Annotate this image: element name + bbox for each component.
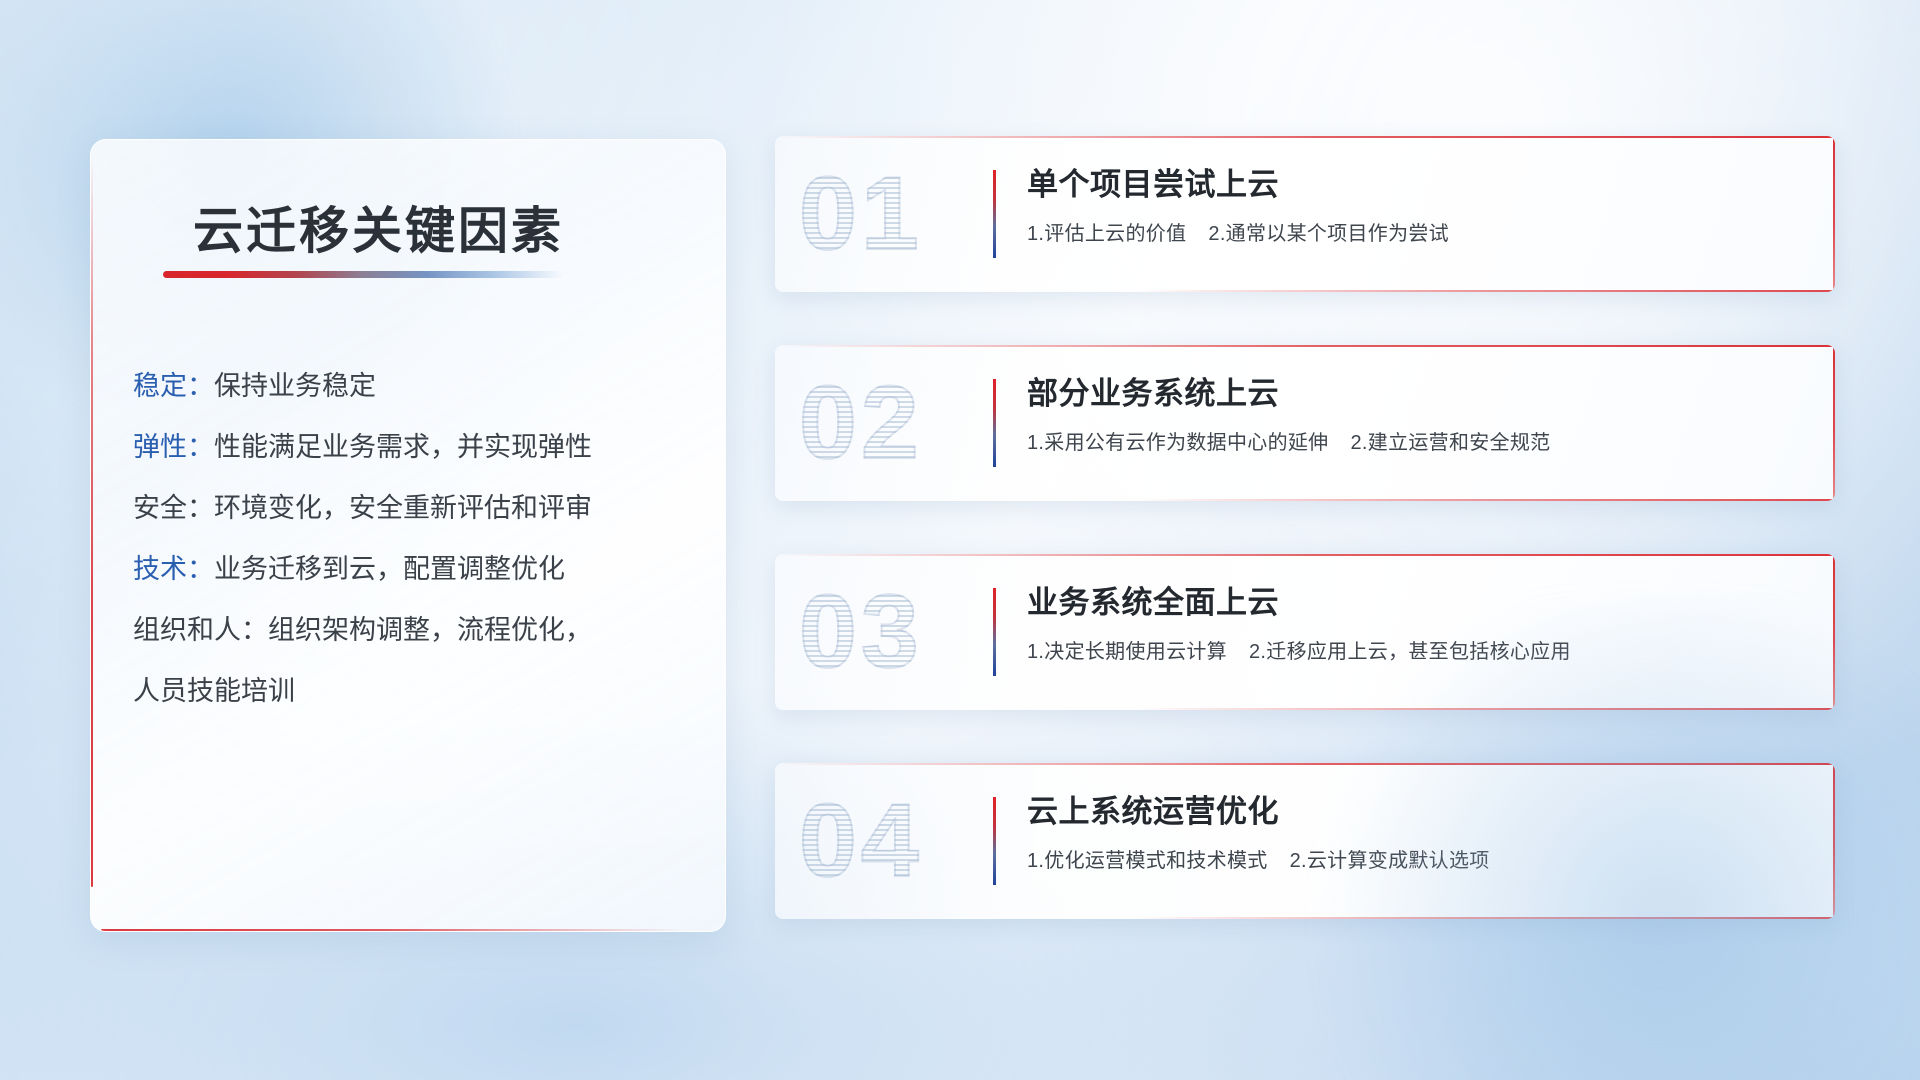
slide-canvas: 云迁移关键因素 稳定：保持业务稳定 弹性：性能满足业务需求，并实现弹性 安全：环… <box>0 0 1920 1080</box>
stage-number: 04 <box>799 789 923 893</box>
stage-number: 03 <box>799 580 923 684</box>
card-description: 1.评估上云的价值2.通常以某个项目作为尝试 <box>1027 221 1811 247</box>
card-description-part-1: 1.评估上云的价值 <box>1027 223 1186 245</box>
card-body: 部分业务系统上云 1.采用公有云作为数据中心的延伸2.建立运营和安全规范 <box>1027 375 1811 456</box>
card-right-accent-line <box>1833 345 1835 501</box>
card-description: 1.采用公有云作为数据中心的延伸2.建立运营和安全规范 <box>1027 430 1811 456</box>
card-description: 1.决定长期使用云计算2.迁移应用上云，甚至包括核心应用 <box>1027 639 1811 665</box>
factor-label: 安全： <box>133 493 214 523</box>
card-body: 业务系统全面上云 1.决定长期使用云计算2.迁移应用上云，甚至包括核心应用 <box>1027 584 1811 665</box>
factor-label: 弹性： <box>133 432 214 462</box>
factor-item: 人员技能培训 <box>133 661 699 722</box>
card-divider-bar <box>993 379 996 467</box>
card-right-accent-line <box>1833 554 1835 710</box>
card-title: 业务系统全面上云 <box>1027 584 1811 623</box>
card-title: 部分业务系统上云 <box>1027 375 1811 414</box>
stage-number: 02 <box>799 371 923 475</box>
card-description-part-1: 1.采用公有云作为数据中心的延伸 <box>1027 432 1328 454</box>
factor-item: 稳定：保持业务稳定 <box>133 356 699 417</box>
card-title: 单个项目尝试上云 <box>1027 166 1811 205</box>
card-body: 单个项目尝试上云 1.评估上云的价值2.通常以某个项目作为尝试 <box>1027 166 1811 247</box>
card-bottom-accent-line <box>1135 290 1835 292</box>
factor-list: 稳定：保持业务稳定 弹性：性能满足业务需求，并实现弹性 安全：环境变化，安全重新… <box>133 356 699 722</box>
factor-label: 技术： <box>133 554 214 584</box>
card-top-accent-line <box>775 763 1835 765</box>
factor-text: 保持业务稳定 <box>214 371 376 401</box>
card-right-accent-line <box>1833 763 1835 919</box>
factor-label: 稳定： <box>133 371 214 401</box>
stage-card[interactable]: 04 云上系统运营优化 1.优化运营模式和技术模式2.云计算变成默认选项 <box>775 763 1835 919</box>
card-description-part-2: 2.通常以某个项目作为尝试 <box>1208 223 1449 245</box>
card-description-part-2: 2.云计算变成默认选项 <box>1290 850 1490 872</box>
card-top-accent-line <box>775 554 1835 556</box>
factor-text: 环境变化，安全重新评估和评审 <box>214 493 592 523</box>
factor-text: 人员技能培训 <box>133 676 295 706</box>
factor-text: 性能满足业务需求，并实现弹性 <box>214 432 592 462</box>
card-divider-bar <box>993 170 996 258</box>
stage-card[interactable]: 01 单个项目尝试上云 1.评估上云的价值2.通常以某个项目作为尝试 <box>775 136 1835 292</box>
card-description-part-1: 1.决定长期使用云计算 <box>1027 641 1227 663</box>
factor-label: 组织和人： <box>133 615 268 645</box>
panel-left-accent-line <box>91 154 93 887</box>
key-factors-panel: 云迁移关键因素 稳定：保持业务稳定 弹性：性能满足业务需求，并实现弹性 安全：环… <box>90 139 726 932</box>
stage-number: 01 <box>799 162 923 266</box>
factor-item: 弹性：性能满足业务需求，并实现弹性 <box>133 417 699 478</box>
card-right-accent-line <box>1833 136 1835 292</box>
card-description-part-2: 2.建立运营和安全规范 <box>1350 432 1550 454</box>
card-top-accent-line <box>775 345 1835 347</box>
card-bottom-accent-line <box>1135 708 1835 710</box>
card-divider-bar <box>993 588 996 676</box>
factor-item: 组织和人：组织架构调整，流程优化， <box>133 600 699 661</box>
factor-item: 技术：业务迁移到云，配置调整优化 <box>133 539 699 600</box>
card-bottom-accent-line <box>1135 917 1835 919</box>
card-description: 1.优化运营模式和技术模式2.云计算变成默认选项 <box>1027 848 1811 874</box>
factor-text: 业务迁移到云，配置调整优化 <box>214 554 565 584</box>
panel-bottom-accent-line <box>101 929 685 931</box>
card-description-part-1: 1.优化运营模式和技术模式 <box>1027 850 1268 872</box>
factor-item: 安全：环境变化，安全重新评估和评审 <box>133 478 699 539</box>
card-body: 云上系统运营优化 1.优化运营模式和技术模式2.云计算变成默认选项 <box>1027 793 1811 874</box>
card-title: 云上系统运营优化 <box>1027 793 1811 832</box>
factor-text: 组织架构调整，流程优化， <box>268 615 592 645</box>
card-bottom-accent-line <box>1135 499 1835 501</box>
card-divider-bar <box>993 797 996 885</box>
card-description-part-2: 2.迁移应用上云，甚至包括核心应用 <box>1249 641 1571 663</box>
card-top-accent-line <box>775 136 1835 138</box>
stage-card-list: 01 单个项目尝试上云 1.评估上云的价值2.通常以某个项目作为尝试 02 部分… <box>775 136 1835 972</box>
stage-card[interactable]: 02 部分业务系统上云 1.采用公有云作为数据中心的延伸2.建立运营和安全规范 <box>775 345 1835 501</box>
title-underline-gradient <box>163 271 563 278</box>
stage-card[interactable]: 03 业务系统全面上云 1.决定长期使用云计算2.迁移应用上云，甚至包括核心应用 <box>775 554 1835 710</box>
page-title: 云迁移关键因素 <box>193 191 564 263</box>
